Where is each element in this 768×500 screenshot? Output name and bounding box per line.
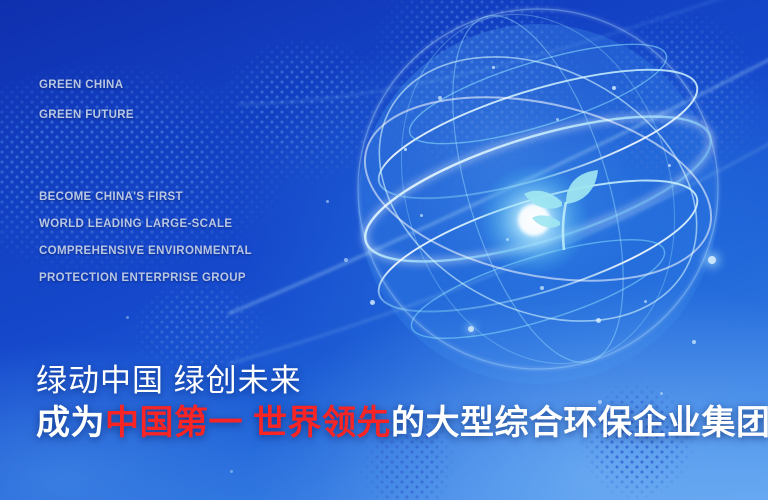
page-title: 绿动中国 绿创未来 成为中国第一 世界领先的大型综合环保企业集团 xyxy=(36,361,768,446)
headline-line-2: 成为中国第一 世界领先的大型综合环保企业集团 xyxy=(36,401,768,446)
tagline-line: WORLD LEADING LARGE-SCALE xyxy=(39,211,252,238)
tagline-block-primary: GREEN CHINA GREEN FUTURE xyxy=(39,70,134,130)
tagline-block-secondary: BECOME CHINA'S FIRST WORLD LEADING LARGE… xyxy=(39,184,252,292)
promo-banner: GREEN CHINA GREEN FUTURE BECOME CHINA'S … xyxy=(0,0,768,500)
headline-suffix: 的大型综合环保企业集团 xyxy=(391,404,768,442)
green-sprout-icon xyxy=(520,158,610,254)
headline-highlight: 中国第一 世界领先 xyxy=(105,404,391,442)
tagline-line: PROTECTION ENTERPRISE GROUP xyxy=(39,265,252,292)
tagline-line: COMPREHENSIVE ENVIRONMENTAL xyxy=(39,238,252,265)
headline-line-1: 绿动中国 绿创未来 xyxy=(36,361,768,401)
tagline-line: GREEN FUTURE xyxy=(39,100,134,130)
tagline-line: GREEN CHINA xyxy=(39,70,134,100)
tagline-line: BECOME CHINA'S FIRST xyxy=(39,184,252,211)
headline-prefix: 成为 xyxy=(36,404,105,442)
